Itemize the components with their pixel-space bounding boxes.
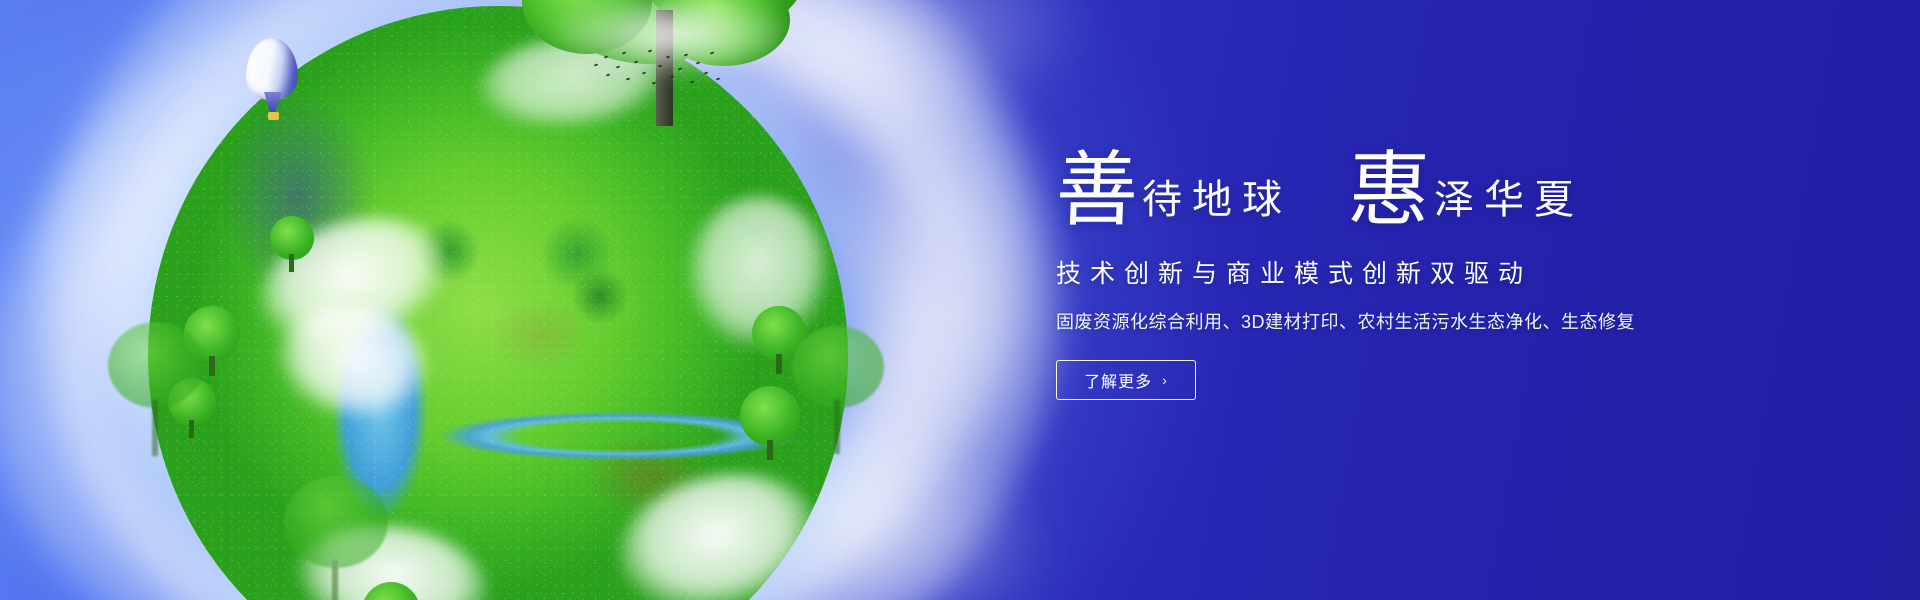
tree-trunk	[834, 400, 840, 454]
page-title: 善 待地球 惠 泽华夏	[1056, 150, 1696, 232]
banner-description: 固废资源化综合利用、3D建材打印、农村生活污水生态净化、生态修复	[1056, 308, 1696, 334]
tree-trunk	[776, 354, 782, 374]
rim-tree	[270, 216, 314, 272]
rim-tree	[740, 386, 800, 460]
headline-text-1: 待地球	[1142, 180, 1292, 232]
tree-crown	[108, 322, 204, 408]
tree-crown	[284, 476, 388, 568]
tree-trunk	[152, 400, 158, 456]
banner-subtitle: 技术创新与商业模式创新双驱动	[1056, 254, 1696, 290]
learn-more-label: 了解更多	[1084, 368, 1152, 392]
outer-tree	[284, 476, 388, 600]
chevron-right-icon: ›	[1162, 372, 1168, 388]
bird-flock-icon	[592, 48, 722, 94]
headline-char-primary-1: 善	[1055, 150, 1140, 232]
balloon-basket	[268, 112, 279, 120]
tree-trunk	[332, 560, 338, 600]
hot-air-balloon-icon	[246, 38, 304, 130]
banner-copy: 善 待地球 惠 泽华夏 技术创新与商业模式创新双驱动 固废资源化综合利用、3D建…	[1056, 150, 1696, 400]
tree-trunk	[289, 254, 294, 272]
tree-trunk	[209, 356, 215, 376]
hero-banner: 善 待地球 惠 泽华夏 技术创新与商业模式创新双驱动 固废资源化综合利用、3D建…	[0, 0, 1920, 600]
balloon-taper	[264, 92, 282, 112]
tree-trunk	[767, 440, 773, 460]
outer-tree	[108, 322, 204, 462]
outer-tree	[792, 326, 884, 460]
headline-text-2: 泽华夏	[1434, 180, 1584, 232]
tree-crown	[792, 326, 884, 408]
learn-more-button[interactable]: 了解更多 ›	[1056, 360, 1196, 400]
headline-char-primary-2: 惠	[1347, 150, 1432, 232]
balloon-envelope	[246, 38, 298, 100]
tree-crown	[740, 386, 800, 446]
